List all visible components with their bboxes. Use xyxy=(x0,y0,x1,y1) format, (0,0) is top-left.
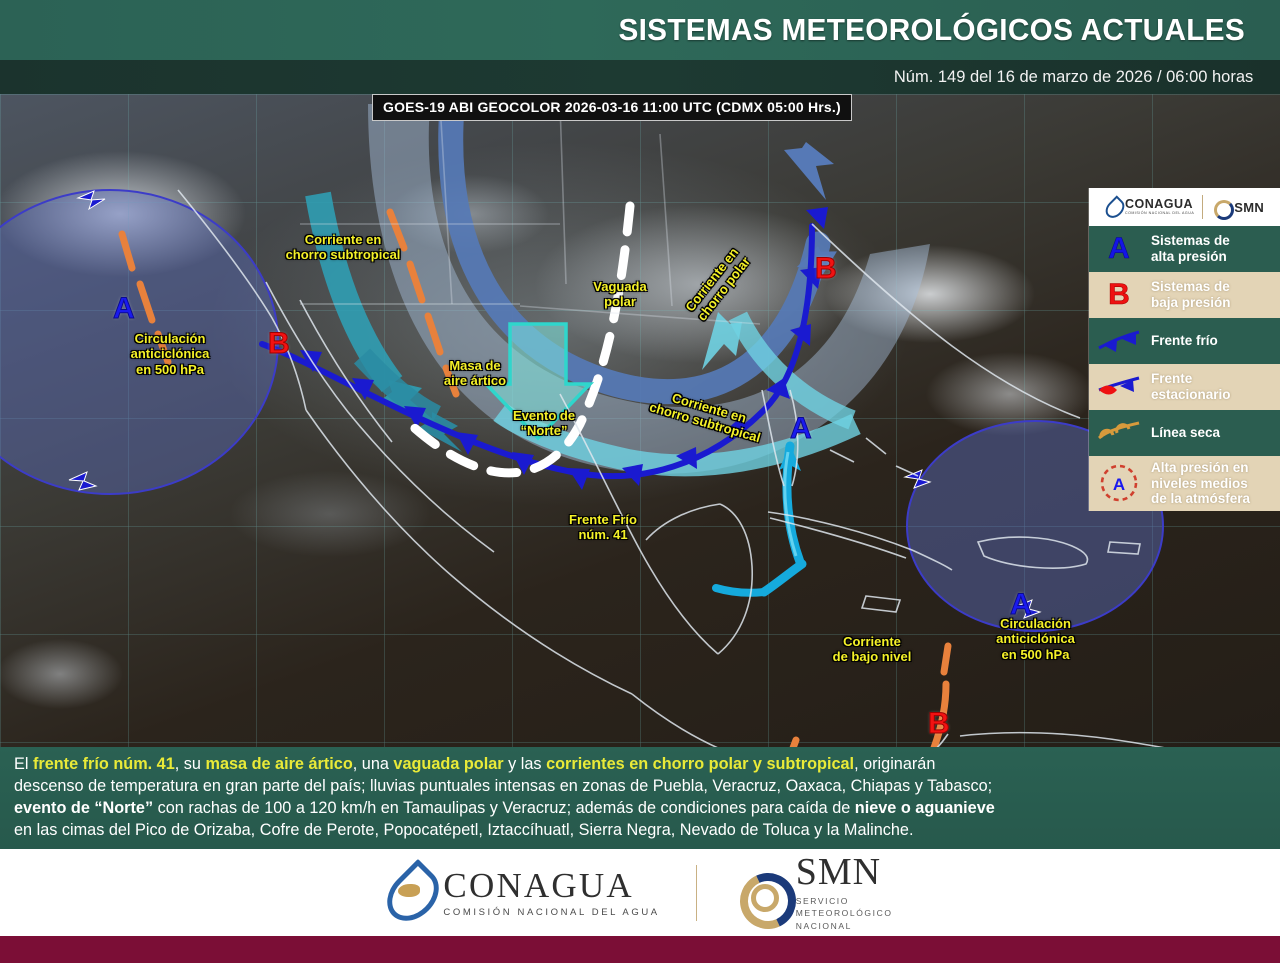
legend-label-alta-niveles-medios: Alta presión en niveles medios de la atm… xyxy=(1151,460,1250,507)
s1f: vaguada polar xyxy=(393,755,503,773)
low-pressure-mark-baja-california: B xyxy=(268,329,290,359)
s1a: El xyxy=(14,755,33,773)
legend-item-frente-estacionario[interactable]: Frente estacionario xyxy=(1089,364,1280,410)
s1i: , originarán xyxy=(854,755,935,773)
smn-spiral-icon xyxy=(733,866,787,920)
footer-conagua-logo: CONAGUA COMISIÓN NACIONAL DEL AGUA xyxy=(387,864,659,922)
summary-line-1: El frente frío núm. 41, su masa de aire … xyxy=(14,754,1249,776)
low-pressure-mark-south: B xyxy=(928,709,950,739)
weather-bulletin-page: SISTEMAS METEOROLÓGICOS ACTUALES Núm. 14… xyxy=(0,0,1280,963)
s3b: con rachas de 100 a 120 km/h en Tamaulip… xyxy=(153,799,855,817)
legend-label-frente-estacionario: Frente estacionario xyxy=(1151,371,1231,402)
s1c: , su xyxy=(175,755,206,773)
s1d: masa de aire ártico xyxy=(205,755,352,773)
letter-a-blue-icon: A xyxy=(1093,234,1145,264)
legend-conagua-sub: COMISIÓN NACIONAL DEL AGUA xyxy=(1125,212,1194,216)
s1h: corrientes en chorro polar y subtropical xyxy=(546,755,854,773)
legend-label-linea-seca: Línea seca xyxy=(1151,425,1220,441)
legend-item-alta-presion[interactable]: A Sistemas de alta presión xyxy=(1089,226,1280,272)
high-pressure-mark-florida: A xyxy=(790,414,812,444)
legend-logo-divider xyxy=(1202,195,1203,219)
high-pressure-mark-caribbean: A xyxy=(1010,590,1032,620)
legend-label-alta-presion: Sistemas de alta presión xyxy=(1151,233,1230,264)
footer-accent-bar xyxy=(0,936,1280,963)
mid-level-high-icon: A xyxy=(1093,462,1145,504)
legend-smn-logo: SMN xyxy=(1211,197,1264,217)
bulletin-number-date: Núm. 149 del 16 de marzo de 2026 / 06:00… xyxy=(893,67,1274,87)
summary-line-2: descenso de temperatura en gran parte de… xyxy=(14,776,1249,798)
legend-smn-name: SMN xyxy=(1234,201,1264,214)
s3a: evento de “Norte” xyxy=(14,799,153,817)
low-pressure-mark-atlantic: B xyxy=(815,254,837,284)
anticyclone-pacific-shape xyxy=(0,190,278,494)
legend-logos: CONAGUA COMISIÓN NACIONAL DEL AGUA SMN xyxy=(1089,188,1280,226)
s3c: nieve o aguanieve xyxy=(855,799,995,817)
legend-item-frente-frio[interactable]: Frente frío xyxy=(1089,318,1280,364)
legend-item-linea-seca[interactable]: Línea seca xyxy=(1089,410,1280,456)
cold-front-icon xyxy=(1093,328,1145,354)
monsoon-trough xyxy=(600,646,948,747)
legend-conagua-name: CONAGUA xyxy=(1125,198,1194,211)
water-drop-icon xyxy=(1105,197,1121,217)
forecast-summary: El frente frío núm. 41, su masa de aire … xyxy=(0,747,1280,849)
footer-smn-sub: SERVICIO METEOROLÓGICO NACIONAL xyxy=(796,895,893,932)
satellite-map[interactable]: A B B A A B Circulación anticiclónica en… xyxy=(0,94,1280,747)
s1b: frente frío núm. 41 xyxy=(33,755,175,773)
spiral-icon xyxy=(1211,197,1231,217)
stationary-front-icon xyxy=(1093,374,1145,400)
legend-item-alta-niveles-medios[interactable]: A Alta presión en niveles medios de la a… xyxy=(1089,456,1280,511)
s1g: y las xyxy=(504,755,546,773)
summary-line-4: en las cimas del Pico de Orizaba, Cofre … xyxy=(14,820,1249,842)
page-footer: CONAGUA COMISIÓN NACIONAL DEL AGUA SMN S… xyxy=(0,849,1280,936)
svg-text:A: A xyxy=(1113,475,1125,494)
legend-label-frente-frio: Frente frío xyxy=(1151,333,1218,349)
dry-line-icon xyxy=(1093,420,1145,446)
footer-smn-name: SMN xyxy=(796,853,893,891)
footer-conagua-sub: COMISIÓN NACIONAL DEL AGUA xyxy=(443,908,659,918)
page-title: SISTEMAS METEOROLÓGICOS ACTUALES xyxy=(619,12,1267,48)
footer-conagua-name: CONAGUA xyxy=(443,868,659,903)
page-header: SISTEMAS METEOROLÓGICOS ACTUALES xyxy=(0,0,1280,60)
satellite-timestamp-banner: GOES-19 ABI GEOCOLOR 2026-03-16 11:00 UT… xyxy=(372,94,852,121)
letter-b-red-icon: B xyxy=(1093,280,1145,310)
legend-label-baja-presion: Sistemas de baja presión xyxy=(1151,279,1231,310)
footer-smn-logo: SMN SERVICIO METEOROLÓGICO NACIONAL xyxy=(733,853,893,932)
legend-symbol-a: A xyxy=(1108,234,1130,264)
legend-symbol-b: B xyxy=(1108,280,1130,310)
water-drop-eagle-icon xyxy=(387,864,431,922)
s1e: , una xyxy=(353,755,394,773)
summary-line-3: evento de “Norte” con rachas de 100 a 12… xyxy=(14,798,1249,820)
legend-item-baja-presion[interactable]: B Sistemas de baja presión xyxy=(1089,272,1280,318)
map-legend: CONAGUA COMISIÓN NACIONAL DEL AGUA SMN A… xyxy=(1088,188,1280,511)
legend-conagua-logo: CONAGUA COMISIÓN NACIONAL DEL AGUA xyxy=(1105,197,1194,217)
page-subheader: Núm. 149 del 16 de marzo de 2026 / 06:00… xyxy=(0,60,1280,94)
high-pressure-mark-pacific: A xyxy=(113,294,135,324)
footer-logo-divider xyxy=(696,865,697,921)
